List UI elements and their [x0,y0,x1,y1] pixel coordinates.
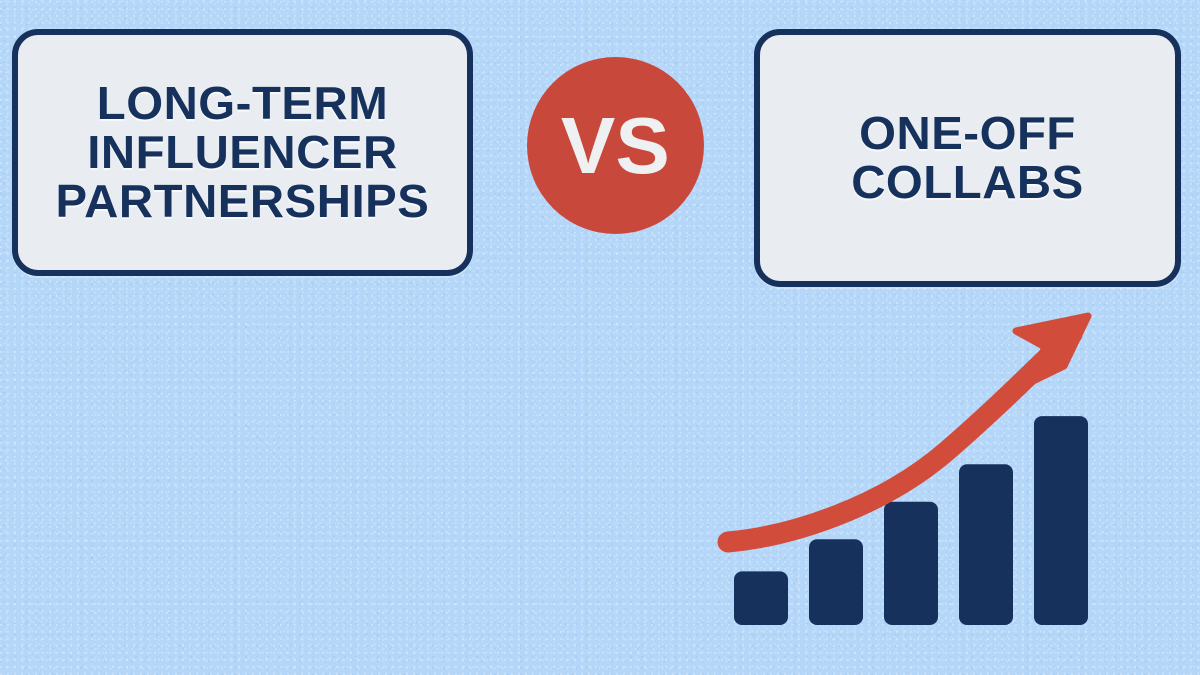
chart-bar [809,539,863,625]
bar-chart-icon [700,300,1120,660]
slide-canvas: LONG-TERM INFLUENCER PARTNERSHIPS VS ONE… [0,0,1200,675]
chart-bars [734,416,1088,625]
comparison-card-right-label: ONE-OFF COLLABS [754,109,1181,207]
chart-bar [884,502,938,625]
chart-bar [959,464,1013,625]
comparison-card-left-label: LONG-TERM INFLUENCER PARTNERSHIPS [11,79,473,225]
versus-label: VS [561,106,670,186]
growth-chart-illustration [700,300,1120,660]
comparison-card-right[interactable]: ONE-OFF COLLABS [754,29,1181,287]
versus-badge: VS [527,57,704,234]
chart-bar [734,571,788,625]
chart-bar [1034,416,1088,625]
comparison-card-left[interactable]: LONG-TERM INFLUENCER PARTNERSHIPS [12,29,473,276]
